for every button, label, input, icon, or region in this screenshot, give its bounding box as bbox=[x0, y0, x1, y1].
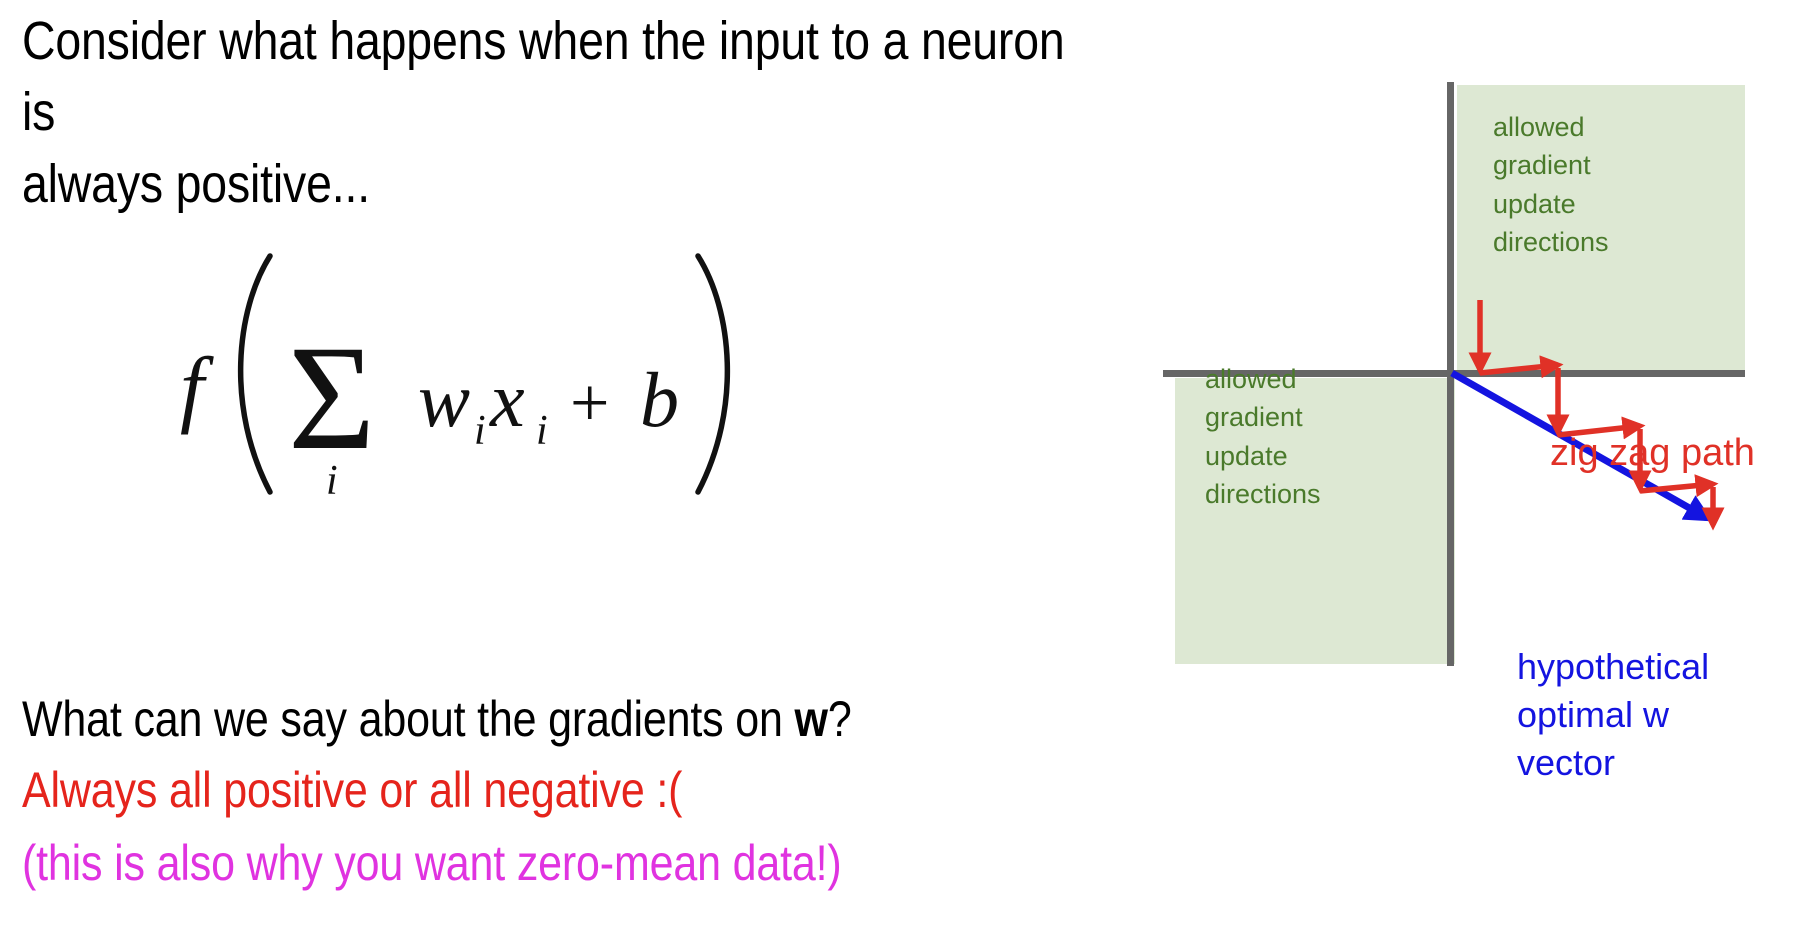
question-line: What can we say about the gradients on w… bbox=[22, 694, 852, 744]
formula-w-sub: i bbox=[474, 408, 486, 454]
headline-text: Consider what happens when the input to … bbox=[22, 6, 1097, 220]
formula-b: b bbox=[640, 356, 679, 443]
neuron-formula: f Σ i w i x i + b bbox=[178, 248, 778, 508]
formula-svg: f Σ i w i x i + b bbox=[178, 248, 778, 508]
question-prefix: What can we say about the gradients on bbox=[22, 691, 795, 747]
formula-x-sub: i bbox=[536, 408, 548, 454]
formula-w: w bbox=[418, 356, 470, 443]
formula-sigma: Σ bbox=[288, 315, 375, 481]
answer-line-magenta: (this is also why you want zero-mean dat… bbox=[22, 838, 842, 888]
zigzag-path-label: zig zag path bbox=[1550, 432, 1755, 475]
formula-plus: + bbox=[570, 365, 609, 442]
gradient-quadrant-diagram: allowed gradient update directions allow… bbox=[1155, 60, 1820, 700]
zigzag-and-optimal-vector-svg bbox=[1155, 60, 1820, 700]
question-bold-w: w bbox=[795, 691, 828, 747]
slide-canvas: Consider what happens when the input to … bbox=[0, 0, 1820, 932]
formula-x: x bbox=[489, 356, 525, 443]
formula-left-paren bbox=[241, 256, 270, 492]
optimal-w-vector-label: hypothetical optimal w vector bbox=[1517, 643, 1709, 787]
answer-line-red: Always all positive or all negative :( bbox=[22, 765, 682, 815]
formula-sigma-index: i bbox=[326, 458, 338, 504]
zigzag-segment-2-right bbox=[1480, 365, 1558, 373]
formula-f: f bbox=[180, 339, 214, 435]
question-suffix: ? bbox=[828, 691, 852, 747]
formula-right-paren bbox=[698, 256, 727, 492]
